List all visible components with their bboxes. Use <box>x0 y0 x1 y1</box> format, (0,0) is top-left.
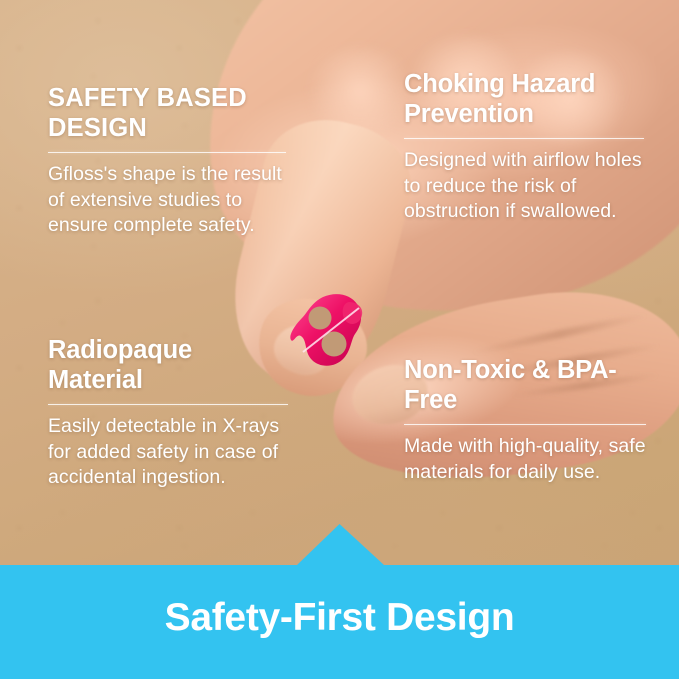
banner-title: Safety-First Design <box>0 596 679 640</box>
gfloss-product <box>289 288 381 380</box>
feature-divider <box>48 404 288 405</box>
feature-divider <box>404 138 644 139</box>
feature-choking-hazard-prevention: Choking Hazard Prevention Designed with … <box>404 70 644 224</box>
feature-divider <box>404 424 646 425</box>
feature-heading: Choking Hazard Prevention <box>404 70 644 129</box>
feature-heading: Non-Toxic & BPA-Free <box>404 356 646 415</box>
product-feature-infographic: SAFETY BASED DESIGN Gfloss's shape is th… <box>0 0 679 679</box>
feature-safety-based-design: SAFETY BASED DESIGN Gfloss's shape is th… <box>48 84 286 238</box>
feature-body: Designed with airflow holes to reduce th… <box>404 148 644 224</box>
feature-body: Made with high-quality, safe materials f… <box>404 434 646 485</box>
feature-heading: SAFETY BASED DESIGN <box>48 84 286 143</box>
feature-radiopaque-material: Radiopaque Material Easily detectable in… <box>48 336 288 490</box>
feature-body: Gfloss's shape is the result of extensiv… <box>48 162 286 238</box>
feature-body: Easily detectable in X-rays for added sa… <box>48 414 288 490</box>
feature-heading: Radiopaque Material <box>48 336 288 395</box>
feature-divider <box>48 152 286 153</box>
feature-non-toxic-bpa-free: Non-Toxic & BPA-Free Made with high-qual… <box>404 356 646 485</box>
